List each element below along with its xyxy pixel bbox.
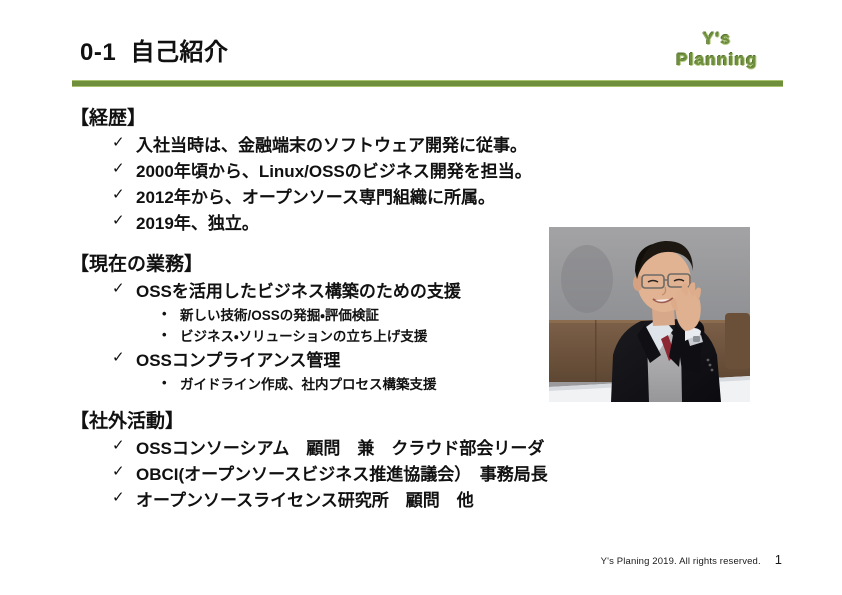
sub-list-item-label: ガイドライン作成、社内プロセス構築支援 <box>180 377 437 392</box>
check-icon: ✓ <box>112 210 125 233</box>
list-item: ✓ OSSコンプライアンス管理 • ガイドライン作成、社内プロセス構築支援 <box>112 348 540 395</box>
list-item: ✓ 2012年から、オープンソース専門組織に所属。 <box>112 185 540 211</box>
list-item: ✓ OSSを活用したビジネス構築のための支援 • 新しい技術/OSSの発掘・評価… <box>112 279 540 347</box>
list-item-label: OSSを活用したビジネス構築のための支援 <box>136 282 461 301</box>
dot-icon: • <box>162 325 167 346</box>
sub-list-item: • 新しい技術/OSSの発掘・評価検証 <box>160 305 540 326</box>
title-divider <box>72 80 783 87</box>
list-item-label: 2000年頃から、Linux/OSSのビジネス開発を担当。 <box>136 162 532 181</box>
sub-list-item-label: ビジネス・ソリューションの立ち上げ支援 <box>180 329 427 344</box>
list-item-label: 入社当時は、金融端末のソフトウェア開発に従事。 <box>136 136 527 155</box>
check-icon: ✓ <box>112 184 125 207</box>
check-icon: ✓ <box>112 487 125 510</box>
list-item: ✓ 2019年、独立。 <box>112 211 540 237</box>
page-title: 0-1 自己紹介 <box>80 40 229 66</box>
brand-logo: Y's Planning <box>652 28 782 71</box>
sub-list-item: • ガイドライン作成、社内プロセス構築支援 <box>160 374 540 395</box>
section-heading: 【経歴】 <box>70 104 540 133</box>
section-heading: 【社外活動】 <box>70 407 540 436</box>
sub-bullet-list: • ガイドライン作成、社内プロセス構築支援 <box>136 374 540 395</box>
check-icon: ✓ <box>112 461 125 484</box>
slide-canvas: 0-1 自己紹介 Y's Planning 【経歴】 ✓ 入社当時は、金融端末の… <box>0 0 842 595</box>
list-item: ✓ OBCI(オープンソースビジネス推進協議会） 事務局長 <box>112 462 540 488</box>
check-icon: ✓ <box>112 435 125 458</box>
list-item-label: OBCI(オープンソースビジネス推進協議会） 事務局長 <box>136 465 548 484</box>
check-icon: ✓ <box>112 278 125 301</box>
speaker-photo <box>549 227 750 402</box>
section-experience: 【経歴】 ✓ 入社当時は、金融端末のソフトウェア開発に従事。 ✓ 2000年頃か… <box>70 104 540 237</box>
slide-footer: Y's Planing 2019. All rights reserved. 1 <box>601 552 782 567</box>
list-item: ✓ OSSコンソーシアム 顧問 兼 クラウド部会リーダ <box>112 436 540 462</box>
logo-line-1: Y's <box>652 28 782 49</box>
sub-list-item: • ビジネス・ソリューションの立ち上げ支援 <box>160 326 540 347</box>
list-item: ✓ 入社当時は、金融端末のソフトウェア開発に従事。 <box>112 133 540 159</box>
list-item-label: オープンソースライセンス研究所 顧問 他 <box>136 491 474 510</box>
list-item-label: OSSコンソーシアム 顧問 兼 クラウド部会リーダ <box>136 439 544 458</box>
bullet-list: ✓ 入社当時は、金融端末のソフトウェア開発に従事。 ✓ 2000年頃から、Lin… <box>70 133 540 236</box>
check-icon: ✓ <box>112 347 125 370</box>
section-current-work: 【現在の業務】 ✓ OSSを活用したビジネス構築のための支援 • 新しい技術/O… <box>70 250 540 395</box>
copyright-text: Y's Planing 2019. All rights reserved. <box>601 556 761 567</box>
section-external-activities: 【社外活動】 ✓ OSSコンソーシアム 顧問 兼 クラウド部会リーダ ✓ OBC… <box>70 407 540 514</box>
page-number: 1 <box>775 552 782 567</box>
dot-icon: • <box>162 373 167 394</box>
bullet-list: ✓ OSSを活用したビジネス構築のための支援 • 新しい技術/OSSの発掘・評価… <box>70 279 540 395</box>
check-icon: ✓ <box>112 132 125 155</box>
bullet-list: ✓ OSSコンソーシアム 顧問 兼 クラウド部会リーダ ✓ OBCI(オープンソ… <box>70 436 540 513</box>
list-item: ✓ オープンソースライセンス研究所 顧問 他 <box>112 488 540 514</box>
list-item-label: 2019年、独立。 <box>136 214 259 233</box>
dot-icon: • <box>162 304 167 325</box>
slide-body: 【経歴】 ✓ 入社当時は、金融端末のソフトウェア開発に従事。 ✓ 2000年頃か… <box>70 104 540 516</box>
list-item-label: 2012年から、オープンソース専門組織に所属。 <box>136 188 495 207</box>
list-item-label: OSSコンプライアンス管理 <box>136 351 340 370</box>
section-heading: 【現在の業務】 <box>70 250 540 279</box>
sub-list-item-label: 新しい技術/OSSの発掘・評価検証 <box>180 308 379 323</box>
sub-bullet-list: • 新しい技術/OSSの発掘・評価検証 • ビジネス・ソリューションの立ち上げ支… <box>136 305 540 348</box>
list-item: ✓ 2000年頃から、Linux/OSSのビジネス開発を担当。 <box>112 159 540 185</box>
check-icon: ✓ <box>112 158 125 181</box>
logo-line-2: Planning <box>652 49 782 70</box>
